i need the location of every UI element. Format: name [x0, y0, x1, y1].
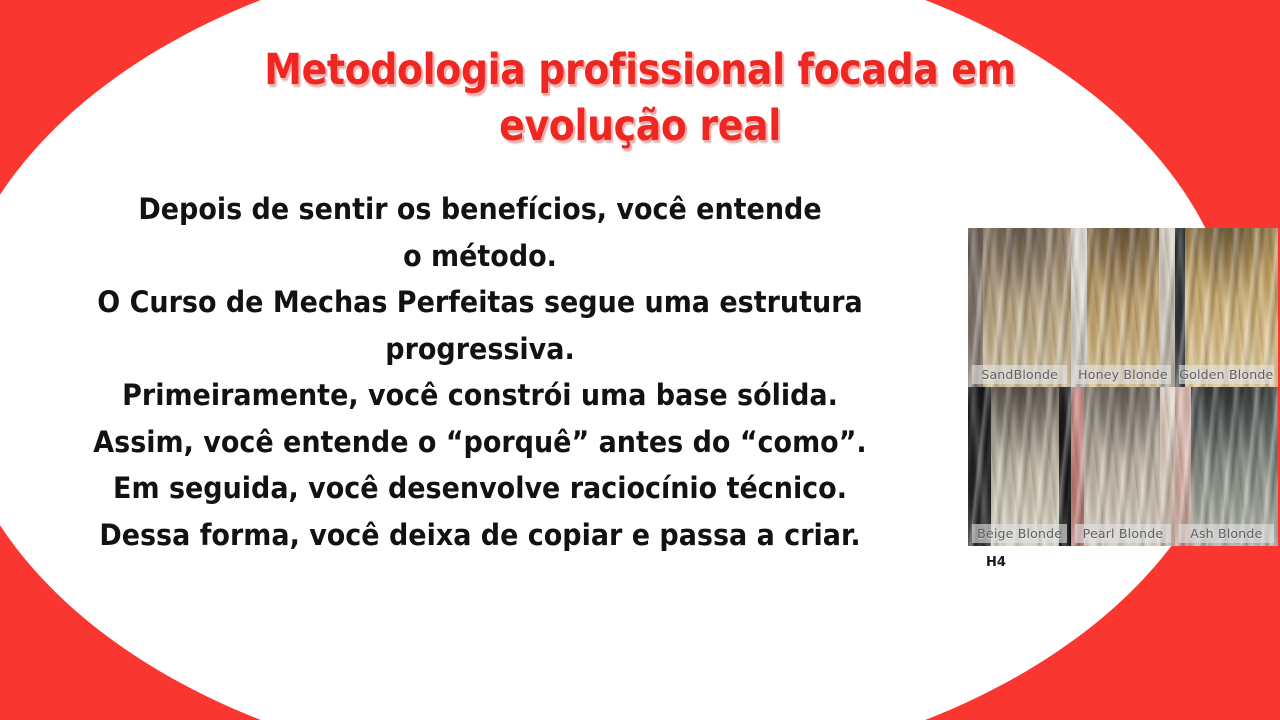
- collage-cell-honey-blonde: Honey Blonde: [1071, 228, 1174, 387]
- hair-photo: [1071, 387, 1174, 546]
- hair-photo: [968, 387, 1071, 546]
- body-line-4: progressiva.: [56, 326, 904, 373]
- hair-photo: [968, 228, 1071, 387]
- collage-cell-label: Pearl Blonde: [1075, 524, 1170, 543]
- collage-cell-label: Ash Blonde: [1179, 524, 1274, 543]
- hair-photo: [1175, 387, 1278, 546]
- collage-caption: H4: [986, 555, 1278, 570]
- collage-cell-sand-blonde: SandBlonde: [968, 228, 1071, 387]
- body-line-6: Assim, você entende o “porquê” antes do …: [56, 419, 904, 466]
- collage-cell-label: Beige Blonde: [972, 524, 1067, 543]
- body-line-8: Dessa forma, você deixa de copiar e pass…: [56, 512, 904, 559]
- collage-cell-label: Golden Blonde: [1179, 365, 1274, 384]
- collage-cell-beige-blonde: Beige Blonde: [968, 387, 1071, 546]
- body-line-5: Primeiramente, você constrói uma base só…: [56, 372, 904, 419]
- collage-grid: SandBlonde Honey Blonde Golden Blonde Be…: [968, 228, 1278, 546]
- collage-cell-ash-blonde: Ash Blonde: [1175, 387, 1278, 546]
- collage-cell-golden-blonde: Golden Blonde: [1175, 228, 1278, 387]
- body-line-3: O Curso de Mechas Perfeitas segue uma es…: [56, 279, 904, 326]
- hair-photo: [1071, 228, 1174, 387]
- collage-cell-pearl-blonde: Pearl Blonde: [1071, 387, 1174, 546]
- body-line-7: Em seguida, você desenvolve raciocínio t…: [56, 465, 904, 512]
- body-text: Depois de sentir os benefícios, você ent…: [24, 186, 936, 558]
- collage-cell-label: SandBlonde: [972, 365, 1067, 384]
- body-line-2: o método.: [56, 233, 904, 280]
- hair-photo: [1175, 228, 1278, 387]
- slide: Metodologia profissional focada em evolu…: [0, 0, 1280, 720]
- collage-cell-label: Honey Blonde: [1075, 365, 1170, 384]
- body-line-1: Depois de sentir os benefícios, você ent…: [56, 186, 904, 233]
- hair-color-collage: SandBlonde Honey Blonde Golden Blonde Be…: [968, 228, 1278, 570]
